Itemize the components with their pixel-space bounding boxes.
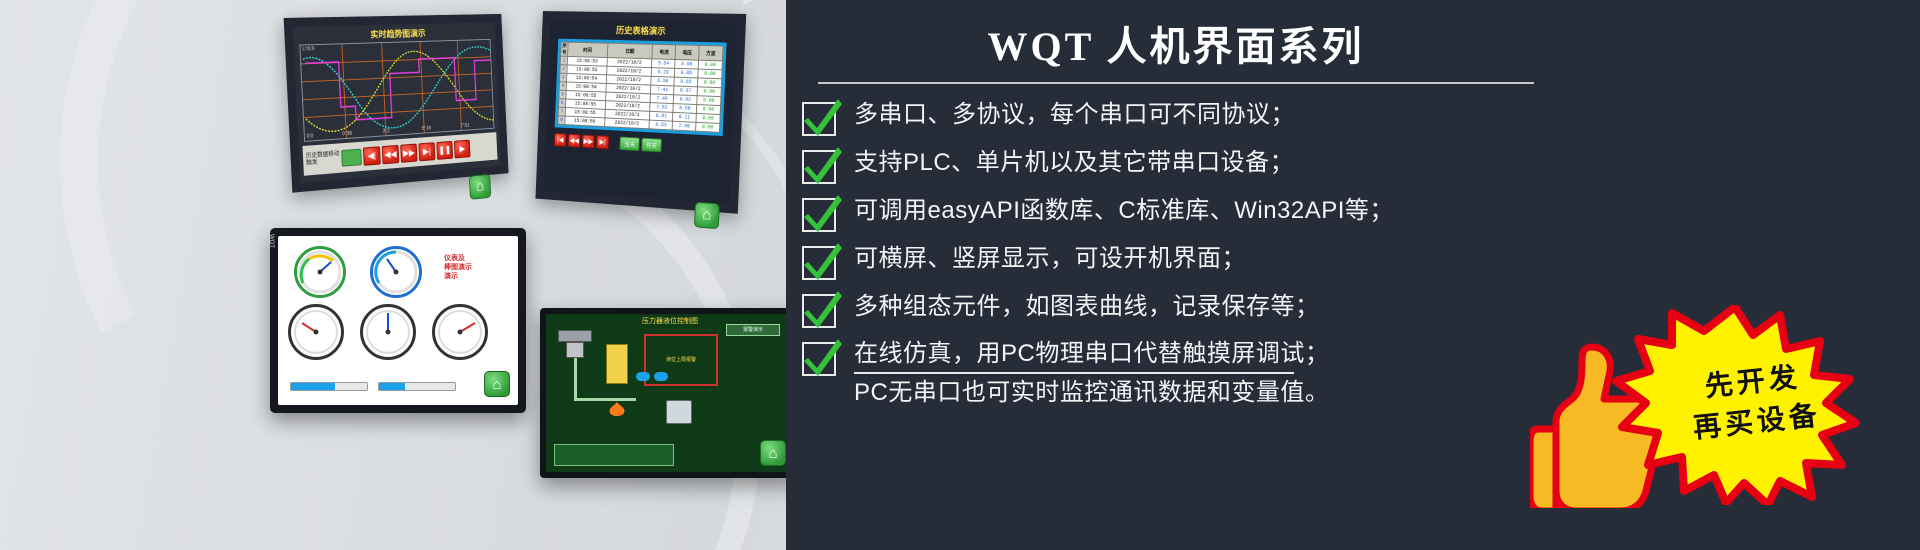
first-page-button[interactable]: |◀: [554, 133, 567, 147]
printer-icon[interactable]: [341, 148, 362, 166]
table-cell: 6.53: [649, 120, 672, 130]
check-icon: [800, 340, 840, 378]
check-icon: [800, 100, 840, 138]
product-banner: 实时趋势图演示 L=0.9 0:0 0':38 3':2 5':16 7':51…: [0, 0, 1920, 550]
home-button[interactable]: ⌂: [694, 202, 720, 230]
gauge-side-note: 仪表及 棒图演示 演示: [444, 254, 472, 281]
col-square: 方波: [699, 45, 723, 60]
play-button[interactable]: ▶: [454, 139, 471, 158]
feature-text-3: 可调用easyAPI函数库、C标准库、Win32API等；: [854, 194, 1394, 228]
home-button[interactable]: ⌂: [469, 174, 491, 200]
history-table-frame: 序号 时间 日期 电流 电压 方波 115:08:532022/10/25.54…: [555, 39, 727, 136]
trend-x-tick-2: 3':2: [383, 128, 390, 134]
feature-item-2: 支持PLC、单片机以及其它带串口设备；: [800, 146, 1570, 186]
feature-text-6a: 在线仿真，用PC物理串口代替触摸屏调试；: [854, 338, 1329, 370]
control-strip: [554, 444, 674, 466]
tag-label: 报警演示: [727, 325, 779, 336]
tank-yellow: [606, 344, 628, 384]
pipe-vertical: [574, 358, 577, 398]
check-icon: [800, 148, 840, 186]
hmi-device-process-screen: 压力器液位控制图 液位上限报警 报警演示: [540, 308, 800, 478]
col-current: 电流: [652, 44, 676, 59]
history-table: 序号 时间 日期 电流 电压 方波 115:08:532022/10/25.54…: [557, 42, 723, 133]
indicator-lamp-1[interactable]: [636, 372, 650, 381]
device-brand-label: WQT: [268, 234, 274, 248]
gauge-white-left: [288, 304, 344, 360]
prev-page-button[interactable]: ◀◀: [568, 134, 581, 148]
table-cell: 15:08:56: [565, 116, 605, 127]
feature-sub-divider: [854, 372, 1294, 374]
bar-graph-1: [290, 382, 368, 391]
feature-item-5: 多种组态元件，如图表曲线，记录保存等；: [800, 290, 1570, 330]
feature-text-6b: PC无串口也可实时监控通讯数据和变量值。: [854, 377, 1329, 409]
feature-list: 多串口、多协议，每个串口可不同协议； 支持PLC、单片机以及其它带串口设备；: [800, 98, 1570, 409]
home-button[interactable]: ⌂: [760, 440, 786, 466]
gauge-white-mid: [360, 304, 416, 360]
feature-text-4: 可横屏、竖屏显示，可设开机界面；: [854, 242, 1246, 276]
home-button[interactable]: ⌂: [484, 371, 510, 397]
feature-item-6: 在线仿真，用PC物理串口代替触摸屏调试； PC无串口也可实时监控通讯数据和变量值…: [800, 338, 1570, 409]
hmi-device-gauges: 仪表及 棒图演示 演示: [270, 228, 526, 413]
check-icon: [800, 196, 840, 234]
gauge-green: [294, 246, 346, 298]
alarm-label: 液位上限报警: [646, 336, 716, 363]
hmi-device-history-table: 历史表格演示 序号 时间 日期 电流 电压 方波 115:08:532022/1…: [535, 11, 746, 214]
gauge-white-right: [432, 304, 488, 360]
gauge-screen: 仪表及 棒图演示 演示: [278, 236, 518, 405]
feature-text-1: 多串口、多协议，每个串口可不同协议；: [854, 98, 1295, 132]
hmi-device-trend-chart: 实时趋势图演示 L=0.9 0:0 0':38 3':2 5':16 7':51…: [284, 14, 509, 193]
table-cell: 9.00: [696, 122, 720, 132]
feature-item-1: 多串口、多协议，每个串口可不同协议；: [800, 98, 1570, 138]
trend-x-tick-0: 0:0: [307, 133, 314, 139]
feature-item-3: 可调用easyAPI函数库、C标准库、Win32API等；: [800, 194, 1570, 234]
trend-toolbar-label: 历史数据移动触发: [306, 151, 340, 167]
first-button[interactable]: ◀|: [363, 146, 381, 166]
trend-x-tick-3: 5':16: [422, 126, 431, 132]
feature-text-2: 支持PLC、单片机以及其它带串口设备；: [854, 146, 1294, 180]
last-button[interactable]: ▶|: [418, 142, 435, 161]
check-icon: [800, 292, 840, 330]
chute-icon: [566, 342, 584, 358]
bottom-accent-bar: [1530, 508, 1920, 550]
forward-button[interactable]: ▶▶: [400, 143, 417, 162]
col-voltage: 电压: [675, 45, 699, 60]
table-cell: 2022/10/2: [604, 118, 649, 129]
feature-text-6-wrap: 在线仿真，用PC物理串口代替触摸屏调试； PC无串口也可实时监控通讯数据和变量值…: [854, 338, 1329, 409]
title-divider: [818, 82, 1534, 84]
trend-plot: L=0.9 0:0 0':38 3':2 5':16 7':51: [299, 39, 494, 142]
feature-text-5: 多种组态元件，如图表曲线，记录保存等；: [854, 290, 1320, 324]
rewind-button[interactable]: ◀◀: [382, 144, 400, 163]
today-button[interactable]: 当天: [619, 136, 640, 151]
table-screen-title: 历史表格演示: [550, 20, 737, 41]
process-screen: 压力器液位控制图 液位上限报警 报警演示: [546, 314, 794, 472]
promo-badge: 先开发 再买设备: [1530, 305, 1860, 535]
flame-icon: [604, 402, 630, 416]
next-page-button[interactable]: ▶▶: [582, 134, 595, 148]
indicator-lamp-2[interactable]: [654, 372, 668, 381]
check-icon: [800, 244, 840, 282]
col-time: 时间: [568, 42, 608, 57]
pipe-horizontal: [574, 398, 636, 401]
yesterday-button[interactable]: 作天: [641, 138, 662, 153]
hopper-icon: [558, 330, 592, 342]
last-page-button[interactable]: ▶|: [596, 135, 609, 149]
pause-button[interactable]: ❚❚: [436, 140, 453, 159]
col-date: 日期: [607, 43, 653, 59]
tag-panel: 报警演示: [726, 324, 780, 336]
feature-item-4: 可横屏、竖屏显示，可设开机界面；: [800, 242, 1570, 282]
gauge-blue: [370, 246, 422, 298]
trend-x-tick-1: 0':38: [342, 131, 352, 138]
vessel-icon: [666, 400, 692, 424]
table-cell: 7.98: [672, 121, 696, 131]
page-title: WQT 人机界面系列: [816, 8, 1536, 82]
trend-x-tick-4: 7':51: [461, 123, 470, 129]
bar-graph-2: [378, 382, 456, 391]
